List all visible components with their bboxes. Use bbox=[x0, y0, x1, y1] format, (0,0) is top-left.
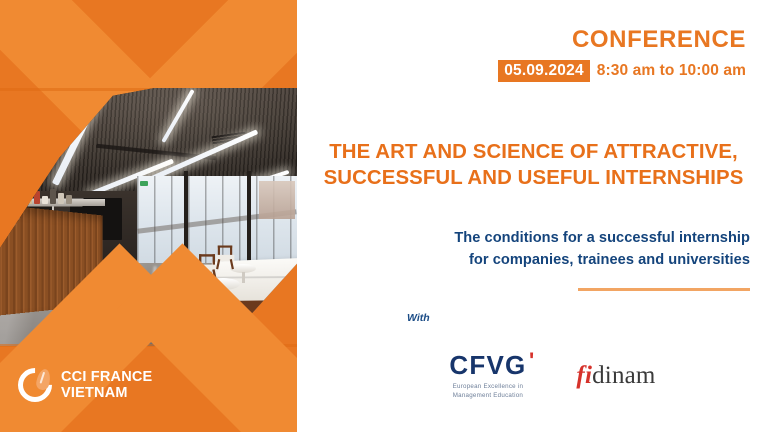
counter-item bbox=[42, 196, 48, 204]
cfvg-accent-mark: ' bbox=[529, 350, 535, 372]
with-label: With bbox=[407, 312, 430, 324]
counter-item bbox=[18, 190, 24, 204]
cfvg-wordmark-text: CFVG bbox=[449, 350, 526, 380]
event-time-label: 8:30 am to 10:00 am bbox=[597, 62, 746, 80]
content-panel: CONFERENCE 05.09.2024 8:30 am to 10:00 a… bbox=[297, 0, 768, 432]
cci-logo-line1: CCI FRANCE bbox=[61, 369, 152, 385]
counter-item bbox=[10, 195, 16, 204]
cci-logo-line2: VIETNAM bbox=[61, 385, 152, 401]
fidinam-suffix: dinam bbox=[592, 362, 656, 389]
page-title-line2: SUCCESSFUL AND USEFUL INTERNSHIPS bbox=[315, 166, 752, 192]
page-subtitle: The conditions for a successful internsh… bbox=[337, 228, 750, 272]
conference-poster: LSW LE SQUARE WORKS bbox=[0, 0, 768, 432]
event-datetime: 05.09.2024 8:30 am to 10:00 am bbox=[498, 60, 746, 82]
counter-items bbox=[0, 186, 76, 204]
cci-france-vietnam-logo: CCI FRANCE VIETNAM bbox=[18, 368, 152, 402]
event-date-badge: 05.09.2024 bbox=[498, 60, 590, 82]
page-title-line1: THE ART AND SCIENCE OF ATTRACTIVE, bbox=[315, 140, 752, 166]
cci-logo-text: CCI FRANCE VIETNAM bbox=[61, 369, 152, 401]
table-leg bbox=[242, 272, 245, 283]
exit-sign-icon bbox=[140, 181, 148, 186]
page-title: THE ART AND SCIENCE OF ATTRACTIVE, SUCCE… bbox=[315, 140, 752, 191]
exterior-building bbox=[259, 181, 295, 219]
subtitle-divider bbox=[578, 288, 750, 291]
counter-item bbox=[34, 191, 40, 204]
cfvg-logo: CFVG ' European Excellence in Management… bbox=[449, 352, 526, 401]
counter-item bbox=[2, 192, 8, 204]
counter-item bbox=[50, 189, 56, 204]
left-orange-panel: LSW LE SQUARE WORKS bbox=[0, 0, 297, 432]
counter-item bbox=[66, 195, 72, 204]
partner-logos: CFVG ' European Excellence in Management… bbox=[297, 352, 768, 401]
event-type-label: CONFERENCE bbox=[572, 26, 746, 54]
cfvg-tagline: European Excellence in Management Educat… bbox=[453, 383, 524, 401]
lounge-chair bbox=[216, 245, 235, 269]
counter-item bbox=[58, 193, 64, 204]
cci-circle-logo-icon bbox=[18, 368, 52, 402]
page-subtitle-line2: for companies, trainees and universities bbox=[337, 250, 750, 272]
chair-leg bbox=[216, 259, 220, 269]
cfvg-wordmark: CFVG ' bbox=[449, 352, 526, 378]
page-subtitle-line1: The conditions for a successful internsh… bbox=[337, 228, 750, 250]
counter-item bbox=[26, 194, 32, 204]
cfvg-tagline-line1: European Excellence in bbox=[453, 383, 524, 392]
fidinam-prefix: fi bbox=[576, 362, 592, 389]
cfvg-tagline-line2: Management Education bbox=[453, 392, 524, 401]
cci-ring-shape bbox=[11, 361, 59, 409]
fidinam-logo: fidinam bbox=[576, 362, 655, 390]
